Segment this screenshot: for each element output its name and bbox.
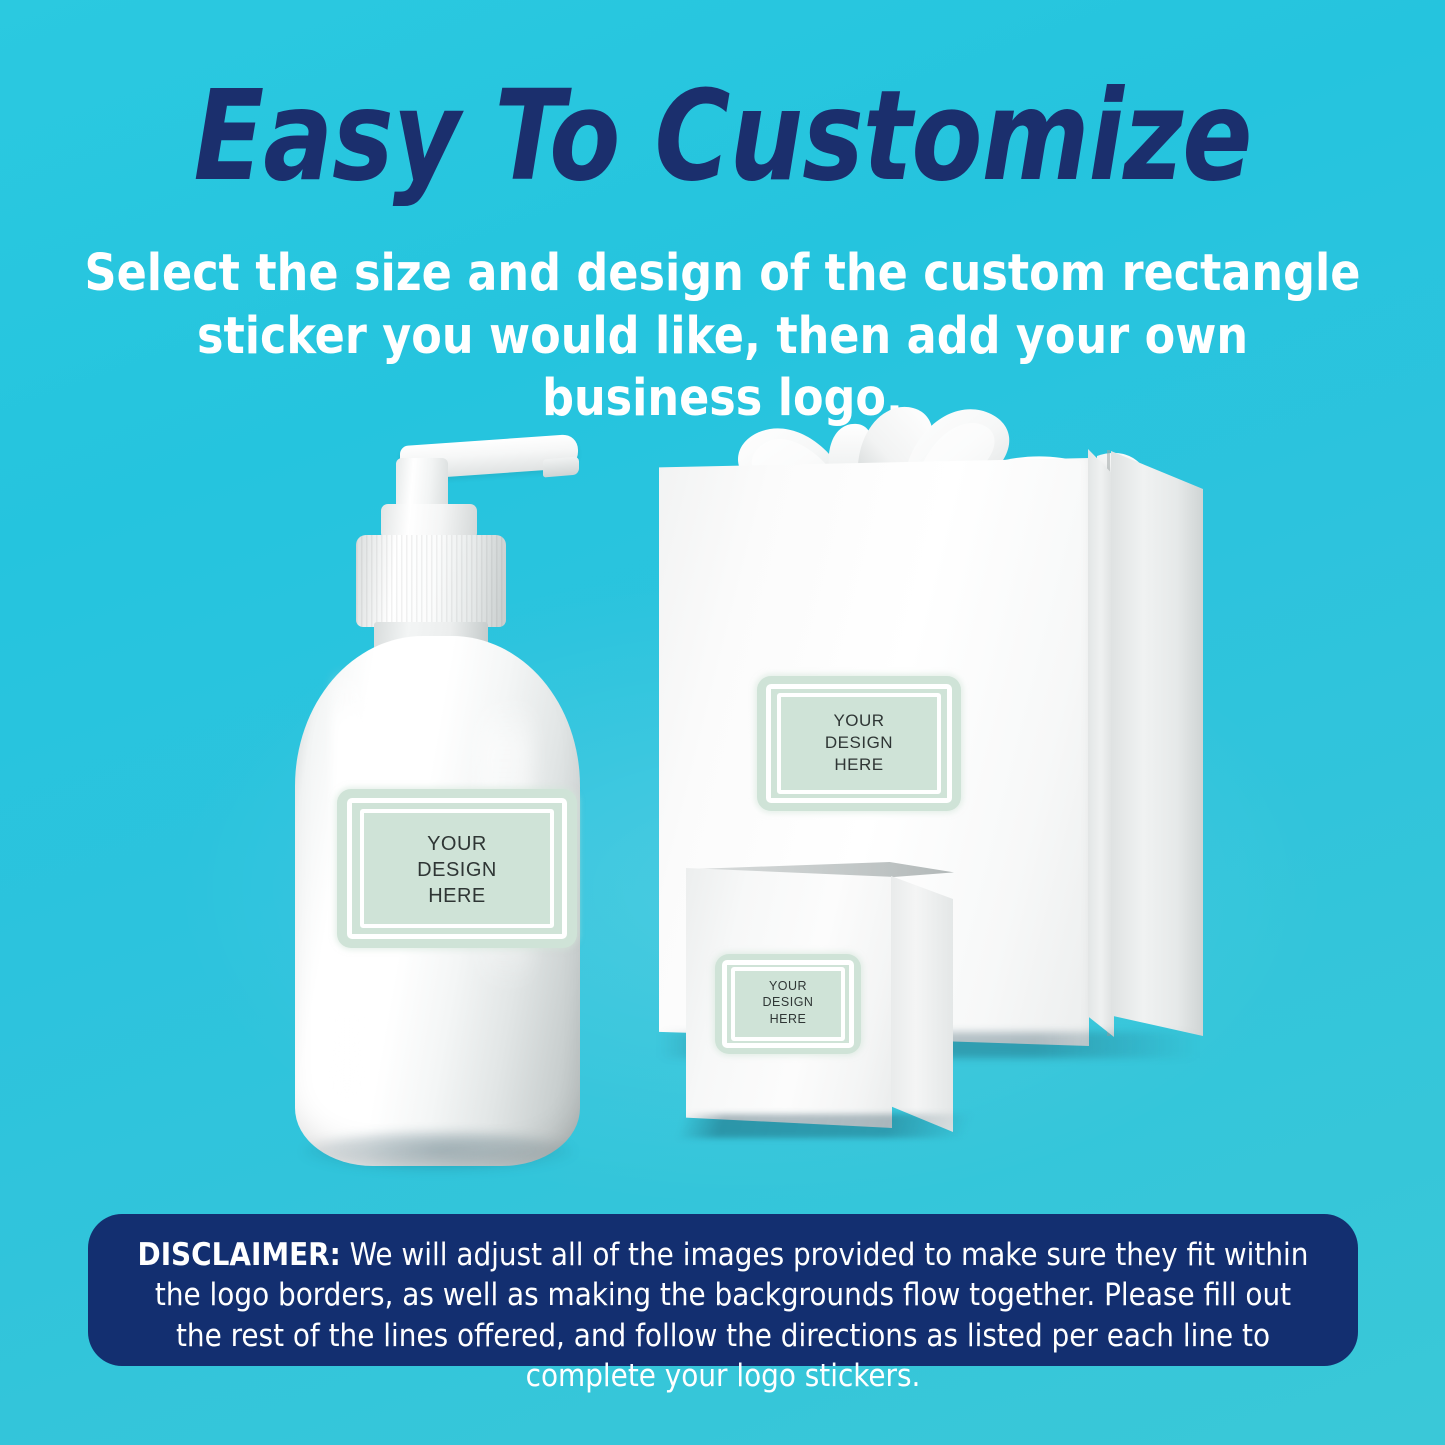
bottle-shadow (302, 1132, 574, 1172)
small-box-shadow (677, 1114, 974, 1138)
sticker-label-giftbox[interactable]: YOUR DESIGN HERE (757, 676, 961, 811)
small-box-side-panel (891, 876, 953, 1132)
disclaimer-text: DISCLAIMER: We will adjust all of the im… (130, 1235, 1316, 1396)
gift-box-side-panel-1 (1088, 449, 1114, 1037)
disclaimer-label: DISCLAIMER: (138, 1237, 341, 1273)
sticker-label-bottle[interactable]: YOUR DESIGN HERE (337, 789, 577, 948)
pump-dispenser-nozzle (543, 456, 579, 477)
page-title: Easy To Customize (58, 72, 1387, 202)
pump-ribbed-cap (356, 535, 506, 627)
disclaimer-banner: DISCLAIMER: We will adjust all of the im… (88, 1214, 1358, 1366)
gift-box-side-panel-2 (1111, 451, 1203, 1036)
sticker-label-text: YOUR DESIGN HERE (337, 831, 577, 909)
sticker-label-text: YOUR DESIGN HERE (715, 978, 861, 1027)
sticker-label-text: YOUR DESIGN HERE (757, 710, 961, 776)
pump-stem (396, 458, 448, 510)
sticker-label-smallbox[interactable]: YOUR DESIGN HERE (715, 954, 861, 1054)
promo-graphic: Easy To Customize Select the size and de… (0, 0, 1445, 1445)
